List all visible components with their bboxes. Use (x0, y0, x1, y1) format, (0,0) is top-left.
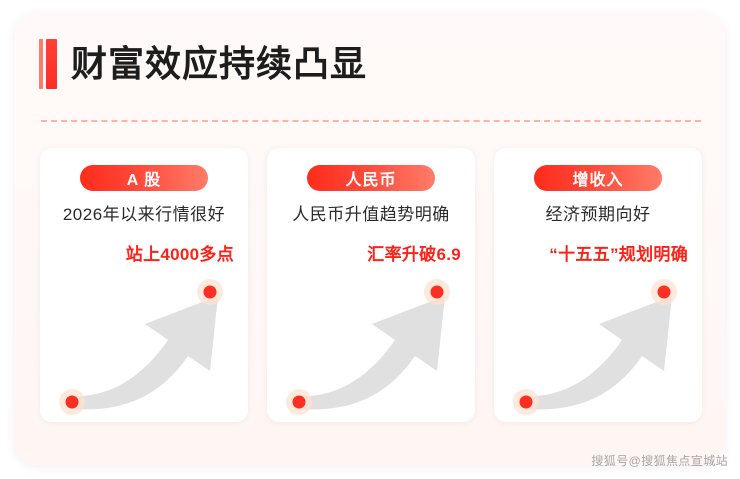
badge-container: 增收入 (494, 165, 702, 191)
status-badge: A 股 (80, 165, 208, 191)
title-accent-bars (39, 39, 57, 89)
content-panel: 财富效应持续凸显 A 股 2026年以来行情很好 站上4000多点 (15, 14, 725, 465)
dashed-divider (41, 120, 701, 122)
watermark-text: 搜狐号@搜狐焦点宣城站 (591, 452, 728, 469)
up-trend-arrow-icon (50, 268, 240, 418)
slide-canvas: 财富效应持续凸显 A 股 2026年以来行情很好 站上4000多点 (0, 0, 740, 479)
info-card[interactable]: A 股 2026年以来行情很好 站上4000多点 (40, 148, 248, 422)
up-trend-arrow-icon (277, 268, 467, 418)
up-trend-arrow-icon (504, 268, 694, 418)
badge-container: 人民币 (267, 165, 475, 191)
page-title: 财富效应持续凸显 (71, 46, 367, 82)
header: 财富效应持续凸显 (39, 36, 367, 92)
card-list: A 股 2026年以来行情很好 站上4000多点 人民币 (40, 148, 702, 422)
card-main-text: 经济预期向好 (494, 200, 702, 225)
card-highlight-text: 站上4000多点 (126, 240, 234, 265)
card-main-text: 2026年以来行情很好 (40, 200, 248, 225)
badge-container: A 股 (40, 165, 248, 191)
status-badge: 人民币 (307, 165, 435, 191)
card-highlight-text: 汇率升破6.9 (367, 240, 461, 265)
status-badge: 增收入 (534, 165, 662, 191)
card-highlight-text: “十五五”规划明确 (549, 240, 688, 265)
info-card[interactable]: 人民币 人民币升值趋势明确 汇率升破6.9 (267, 148, 475, 422)
accent-bar-thick (46, 39, 57, 89)
card-main-text: 人民币升值趋势明确 (267, 200, 475, 225)
info-card[interactable]: 增收入 经济预期向好 “十五五”规划明确 (494, 148, 702, 422)
